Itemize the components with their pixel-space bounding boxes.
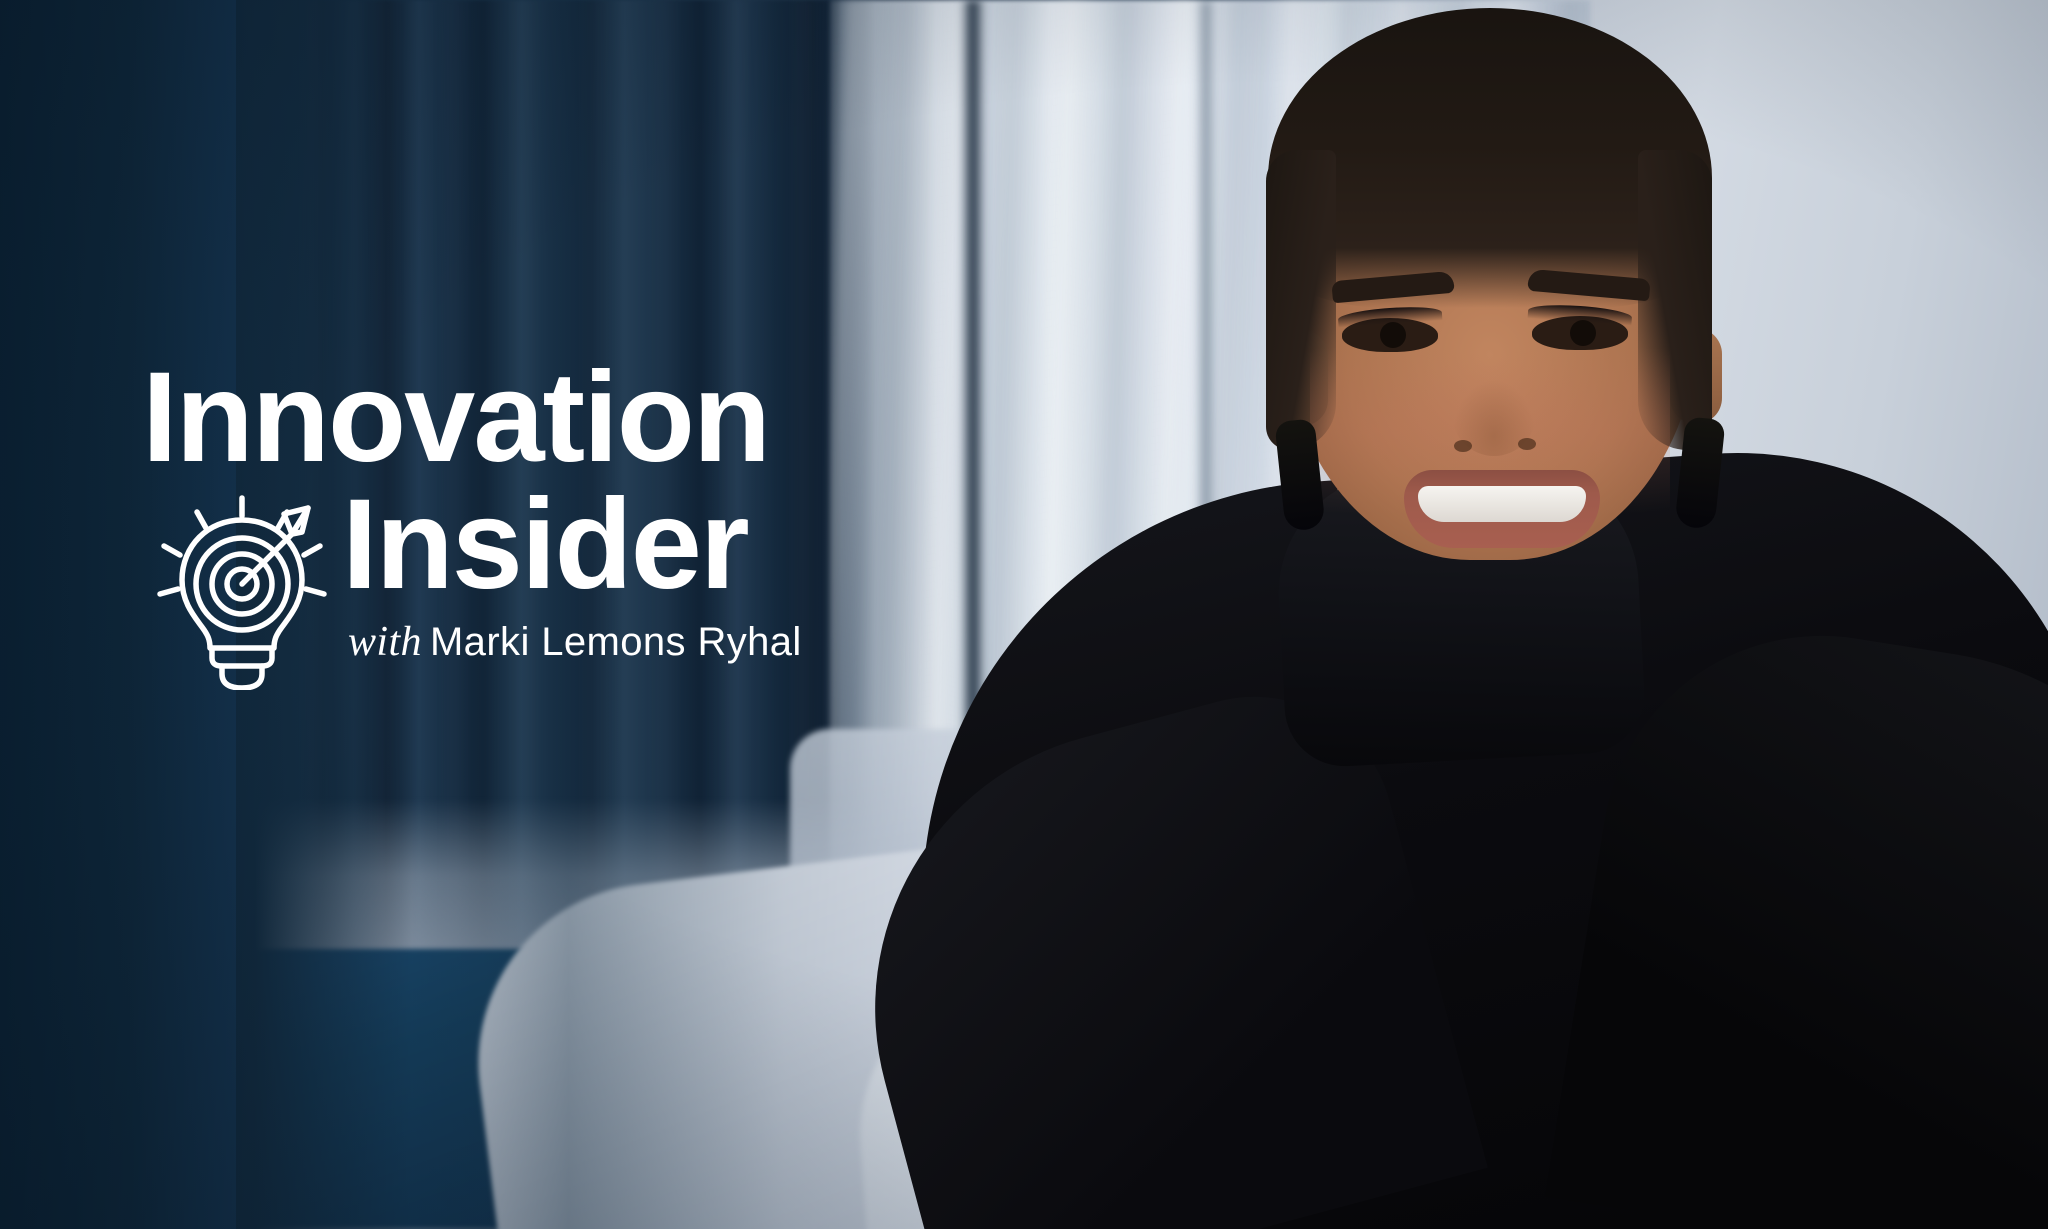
title-row-with-logo: Insider withMarki Lemons Ryhal [142,482,1042,665]
pupil-left [1380,322,1406,348]
host-byline: withMarki Lemons Ryhal [348,618,802,666]
podcast-cover-art: Innovation [0,0,2048,1229]
lightbulb-target-icon [142,490,342,690]
byline-host-name: Marki Lemons Ryhal [430,620,802,664]
teeth [1418,486,1586,522]
show-title-line-1: Innovation [142,355,1042,480]
nostril-left [1454,440,1472,452]
host-portrait [980,0,2048,1229]
title-text-column: Insider withMarki Lemons Ryhal [346,482,802,665]
show-title-lockup: Innovation [142,355,1042,666]
byline-prefix: with [348,619,422,665]
nostril-right [1518,438,1536,450]
mouth [1404,470,1600,548]
pupil-right [1570,320,1596,346]
show-title-line-2: Insider [342,482,802,607]
